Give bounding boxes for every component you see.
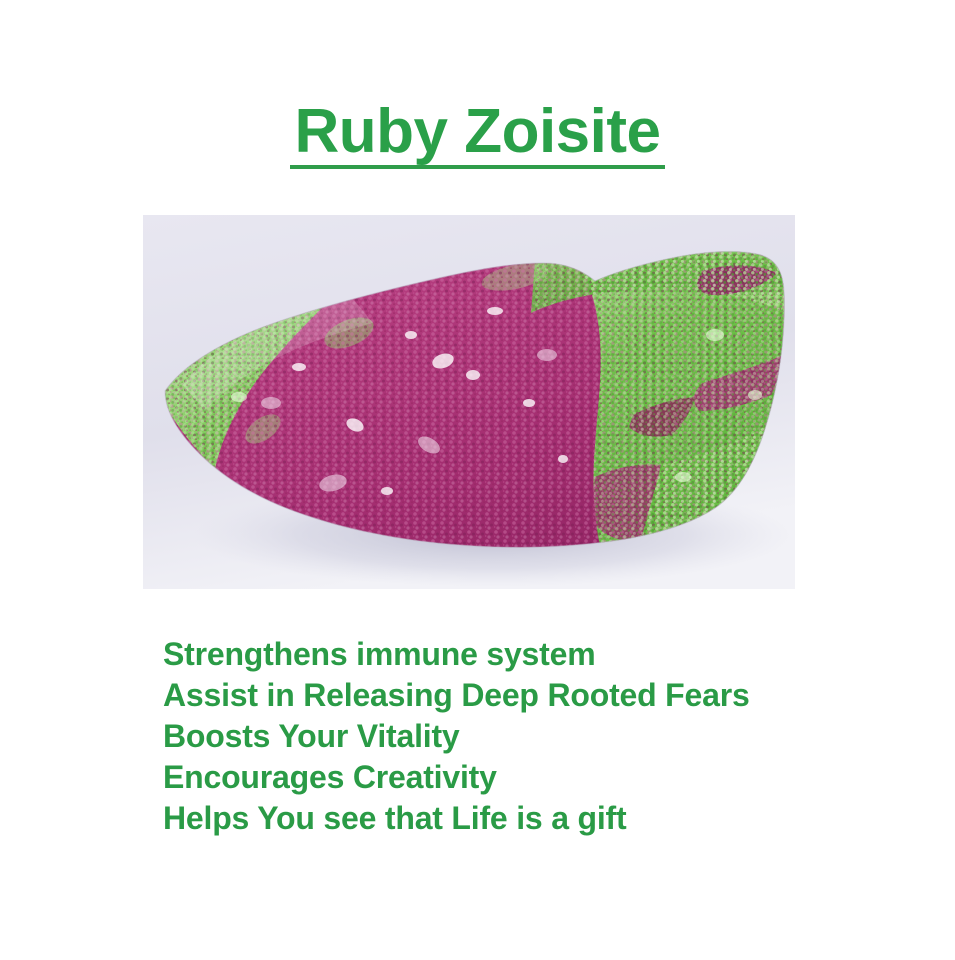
benefits-list: Strengthens immune system Assist in Rele… bbox=[163, 634, 923, 839]
ruby-zoisite-photo bbox=[143, 215, 795, 589]
page-title-text-wrap: Ruby Zoisite bbox=[294, 101, 660, 169]
page-title: Ruby Zoisite bbox=[0, 101, 955, 169]
page-title-text: Ruby Zoisite bbox=[294, 97, 660, 166]
page-root: Ruby Zoisite bbox=[0, 0, 955, 960]
benefit-item: Encourages Creativity bbox=[163, 757, 923, 798]
benefit-item: Helps You see that Life is a gift bbox=[163, 798, 923, 839]
benefit-item: Assist in Releasing Deep Rooted Fears bbox=[163, 675, 923, 716]
benefit-item: Strengthens immune system bbox=[163, 634, 923, 675]
ruby-zoisite-illustration bbox=[143, 215, 795, 589]
page-title-underline bbox=[290, 165, 664, 169]
benefit-item: Boosts Your Vitality bbox=[163, 716, 923, 757]
